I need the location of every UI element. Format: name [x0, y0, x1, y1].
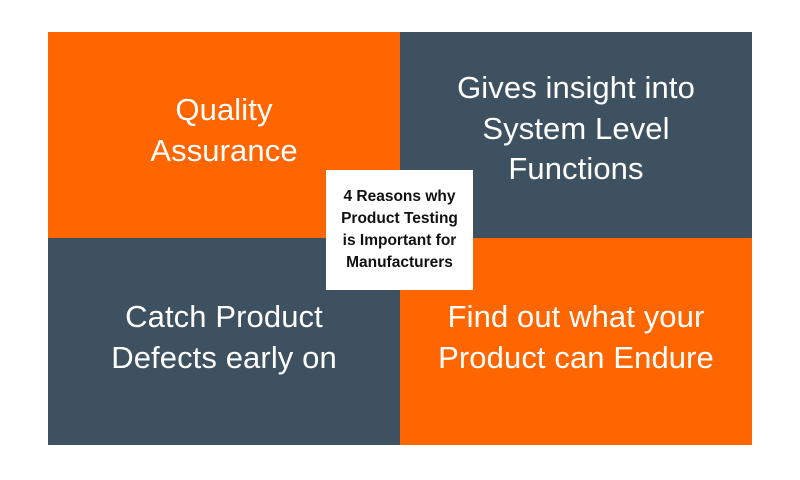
- center-title-text: 4 Reasons why Product Testing is Importa…: [341, 186, 458, 274]
- quadrant-label-system-level-functions: Gives insight into System Level Function…: [457, 68, 695, 191]
- quadrant-label-catch-product-defects: Catch Product Defects early on: [111, 297, 337, 379]
- quadrant-label-quality-assurance: Quality Assurance: [150, 90, 297, 172]
- center-title-card: 4 Reasons why Product Testing is Importa…: [326, 170, 473, 290]
- infographic-canvas: Quality Assurance Gives insight into Sys…: [0, 0, 800, 480]
- quadrant-label-product-endurance: Find out what your Product can Endure: [438, 297, 714, 379]
